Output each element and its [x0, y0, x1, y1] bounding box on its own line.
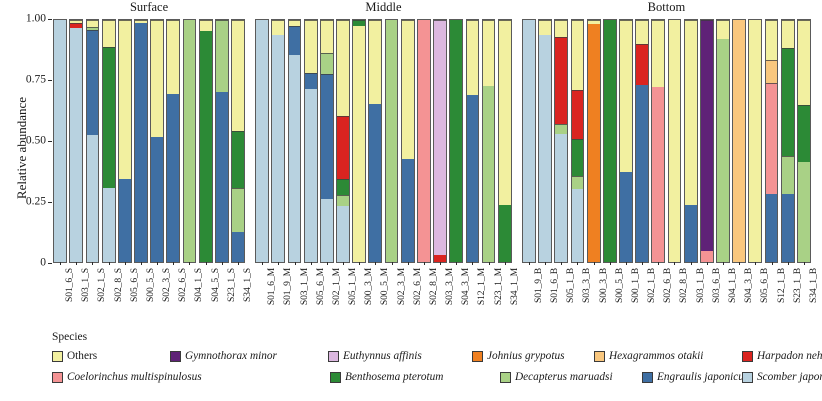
bar-segment — [232, 20, 244, 131]
stacked-bar[interactable] — [166, 19, 180, 263]
bar-segment — [87, 135, 99, 262]
x-axis-labels-middle: S01_6_MS01_9_MS03_1_MS05_6_MS02_1_MS05_1… — [254, 266, 513, 326]
x-tick-label-slot: S00_3_B — [586, 266, 602, 326]
bar-segment — [337, 195, 349, 205]
bar-slot[interactable] — [181, 19, 197, 263]
x-tick-label-slot: S05_6_S — [117, 266, 133, 326]
legend: Species OthersGymnothorax minorEuthynnus… — [52, 331, 820, 397]
stacked-bar[interactable] — [449, 19, 463, 263]
legend-swatch-icon — [328, 351, 339, 362]
x-tick-mark — [804, 262, 805, 265]
bar-segment — [151, 137, 163, 262]
legend-item[interactable]: Coelorinchus multispinulosus — [52, 368, 202, 387]
x-tick-label-slot: S02_6_M — [400, 266, 416, 326]
x-tick-label-slot: S01_6_M — [254, 266, 270, 326]
bar-segment — [232, 232, 244, 262]
bar-slot[interactable] — [319, 19, 335, 263]
bar-segment — [782, 48, 794, 156]
stacked-bar[interactable] — [53, 19, 67, 263]
bar-segment — [572, 189, 584, 262]
legend-item[interactable]: Harpadon nehereus — [742, 347, 822, 366]
panel-bottom — [521, 19, 812, 263]
bar-segment — [305, 89, 317, 262]
bar-segment — [321, 20, 333, 53]
bar-slot[interactable] — [254, 19, 270, 263]
x-tick-label-slot: S34_1_S — [230, 266, 246, 326]
stacked-bar[interactable] — [797, 19, 811, 263]
bar-segment — [232, 188, 244, 232]
bar-slot[interactable] — [521, 19, 537, 263]
stacked-bar[interactable] — [716, 19, 730, 263]
bar-slot[interactable] — [586, 19, 602, 263]
bar-slot[interactable] — [133, 19, 149, 263]
x-tick-label-slot: S04_1_B — [715, 266, 731, 326]
legend-label: Harpadon nehereus — [757, 350, 822, 363]
legend-item[interactable]: Engraulis japonicus — [642, 368, 748, 387]
stacked-bar[interactable] — [183, 19, 197, 263]
x-tick-mark — [707, 262, 708, 265]
bar-segment — [289, 55, 301, 262]
bar-segment — [402, 159, 414, 262]
bar-segment — [337, 116, 349, 179]
bar-slot[interactable] — [214, 19, 230, 263]
bar-slot[interactable] — [537, 19, 553, 263]
stacked-bar[interactable] — [134, 19, 148, 263]
x-tick-mark — [295, 262, 296, 265]
stacked-bar[interactable] — [554, 19, 568, 263]
stacked-bar[interactable] — [336, 19, 350, 263]
bar-slot[interactable] — [432, 19, 448, 263]
bar-segment — [103, 47, 115, 188]
legend-swatch-icon — [742, 372, 753, 383]
bar-segment — [499, 20, 511, 205]
stacked-bar[interactable] — [482, 19, 496, 263]
x-tick-mark — [674, 262, 675, 265]
bar-segment — [523, 20, 535, 262]
x-tick-mark — [125, 262, 126, 265]
bar-segment — [305, 73, 317, 89]
x-tick-label-slot: S02_1_M — [319, 266, 335, 326]
legend-item[interactable]: Others — [52, 347, 97, 366]
bar-slot[interactable] — [383, 19, 399, 263]
x-tick-label-slot: S05_6_M — [303, 266, 319, 326]
panel-title-strip: Surface Middle Bottom — [0, 0, 822, 18]
bar-segment — [402, 20, 414, 159]
x-tick-label-slot: S02_6_S — [165, 266, 181, 326]
y-tick-label: 1.00 — [2, 13, 46, 25]
x-tick-mark — [92, 262, 93, 265]
bar-slot[interactable] — [497, 19, 513, 263]
bar-segment — [539, 35, 551, 262]
x-tick-label-slot: S05_6_B — [747, 266, 763, 326]
bar-slot[interactable] — [464, 19, 480, 263]
bar-slot[interactable] — [117, 19, 133, 263]
x-tick-mark — [238, 262, 239, 265]
panel-middle — [254, 19, 513, 263]
x-tick-mark — [76, 262, 77, 265]
bar-slot[interactable] — [149, 19, 165, 263]
stacked-bar[interactable] — [86, 19, 100, 263]
stacked-bar[interactable] — [571, 19, 585, 263]
x-tick-mark — [505, 262, 506, 265]
bar-segment — [272, 20, 284, 35]
bar-segment — [184, 20, 196, 262]
bar-segment — [321, 74, 333, 199]
x-tick-mark — [577, 262, 578, 265]
bar-slot[interactable] — [416, 19, 432, 263]
x-tick-mark — [392, 262, 393, 265]
stacked-bar[interactable] — [102, 19, 116, 263]
legend-item[interactable]: Gymnothorax minor — [170, 347, 277, 366]
bar-segment — [337, 20, 349, 116]
x-tick-mark — [561, 262, 562, 265]
bar-slot[interactable] — [303, 19, 319, 263]
bar-segment — [369, 20, 381, 103]
legend-swatch-icon — [642, 372, 653, 383]
stacked-bar[interactable] — [538, 19, 552, 263]
x-tick-mark — [262, 262, 263, 265]
x-tick-mark — [739, 262, 740, 265]
x-tick-label-slot: S00_1_B — [618, 266, 634, 326]
bar-segment — [467, 20, 479, 95]
bar-segment — [119, 179, 131, 262]
x-tick-mark — [788, 262, 789, 265]
x-tick-mark — [545, 262, 546, 265]
bar-segment — [499, 205, 511, 262]
stacked-bar[interactable] — [215, 19, 229, 263]
bar-segment — [766, 194, 778, 262]
bar-slot[interactable] — [448, 19, 464, 263]
bar-segment — [70, 28, 82, 262]
bar-slot[interactable] — [618, 19, 634, 263]
stacked-bar[interactable] — [271, 19, 285, 263]
bar-slot[interactable] — [780, 19, 796, 263]
stacked-bar[interactable] — [69, 19, 83, 263]
bar-segment — [766, 60, 778, 83]
bar-group — [521, 19, 812, 263]
chart-figure: Surface Middle Bottom Relative abundance… — [0, 0, 822, 401]
bar-slot[interactable] — [198, 19, 214, 263]
x-tick-label: S34_1_M — [509, 268, 520, 305]
x-tick-mark — [658, 262, 659, 265]
legend-label: Gymnothorax minor — [185, 350, 277, 363]
x-tick-mark — [626, 262, 627, 265]
legend-swatch-icon — [52, 372, 63, 383]
legend-swatch-icon — [500, 372, 511, 383]
legend-swatch-icon — [742, 351, 753, 362]
bar-segment — [483, 20, 495, 86]
bar-segment — [636, 44, 648, 85]
legend-label: Engraulis japonicus — [657, 371, 748, 384]
x-tick-label-slot: S00_5_S — [133, 266, 149, 326]
bar-slot[interactable] — [335, 19, 351, 263]
legend-swatch-icon — [330, 372, 341, 383]
x-tick-mark — [311, 262, 312, 265]
bar-segment — [717, 20, 729, 39]
x-tick-mark — [109, 262, 110, 265]
x-tick-label-slot: S01_9_B — [521, 266, 537, 326]
bar-slot[interactable] — [650, 19, 666, 263]
stacked-bar[interactable] — [150, 19, 164, 263]
legend-label: Coelorinchus multispinulosus — [67, 371, 202, 384]
bar-segment — [555, 20, 567, 37]
legend-item[interactable]: Decapterus maruadsi — [500, 368, 613, 387]
x-tick-mark — [327, 262, 328, 265]
bar-segment — [798, 162, 810, 262]
bar-slot[interactable] — [731, 19, 747, 263]
stacked-bar[interactable] — [304, 19, 318, 263]
stacked-bar[interactable] — [651, 19, 665, 263]
panel-title-bottom: Bottom — [521, 0, 812, 15]
bar-slot[interactable] — [634, 19, 650, 263]
x-tick-label-slot: S00_5_M — [367, 266, 383, 326]
stacked-bar[interactable] — [522, 19, 536, 263]
x-tick-mark — [489, 262, 490, 265]
bar-segment — [321, 199, 333, 262]
stacked-bar[interactable] — [352, 19, 366, 263]
x-tick-label-slot: S02_6_B — [650, 266, 666, 326]
bar-segment — [604, 20, 616, 262]
bar-segment — [555, 124, 567, 134]
bar-segment — [103, 188, 115, 262]
bar-slot[interactable] — [68, 19, 84, 263]
x-tick-label-slot: S23_1_S — [214, 266, 230, 326]
x-tick-mark — [157, 262, 158, 265]
x-tick-mark — [456, 262, 457, 265]
x-tick-mark — [472, 262, 473, 265]
bar-slot[interactable] — [84, 19, 100, 263]
bar-segment — [572, 139, 584, 177]
stacked-bar[interactable] — [781, 19, 795, 263]
y-tick-label: 0.75 — [2, 74, 46, 86]
bar-segment — [588, 24, 600, 262]
bar-segment — [434, 20, 446, 255]
bar-segment — [450, 20, 462, 262]
x-tick-label-slot: S00_3_M — [351, 266, 367, 326]
legend-label: Hexagrammos otakii — [609, 350, 703, 363]
legend-item[interactable]: Scomber japonicus — [742, 368, 822, 387]
legend-label: Benthosema pterotum — [345, 371, 443, 384]
legend-swatch-icon — [170, 351, 181, 362]
bar-segment — [798, 20, 810, 105]
x-tick-label-slot: S03_3_M — [432, 266, 448, 326]
bar-slot[interactable] — [230, 19, 246, 263]
bar-segment — [572, 90, 584, 138]
bar-segment — [572, 20, 584, 90]
stacked-bar[interactable] — [118, 19, 132, 263]
x-tick-mark — [141, 262, 142, 265]
x-tick-mark — [359, 262, 360, 265]
y-tick-label: 0 — [2, 257, 46, 269]
legend-item[interactable]: Johnius grypotus — [472, 347, 565, 366]
bar-slot[interactable] — [286, 19, 302, 263]
x-tick-mark — [691, 262, 692, 265]
stacked-bar[interactable] — [433, 19, 447, 263]
bar-segment — [87, 30, 99, 136]
bar-segment — [386, 20, 398, 262]
bar-slot[interactable] — [747, 19, 763, 263]
stacked-bar[interactable] — [385, 19, 399, 263]
stacked-bar[interactable] — [231, 19, 245, 263]
x-tick-label-slot: S04_1_S — [181, 266, 197, 326]
legend-item[interactable]: Euthynnus affinis — [328, 347, 422, 366]
bar-slot[interactable] — [52, 19, 68, 263]
bar-group — [52, 19, 246, 263]
legend-swatch-icon — [52, 351, 63, 362]
legend-row-1: OthersGymnothorax minorEuthynnus affinis… — [52, 347, 820, 368]
x-tick-label-slot: S05_1_B — [553, 266, 569, 326]
bar-segment — [636, 20, 648, 44]
bar-slot[interactable] — [683, 19, 699, 263]
bar-slot[interactable] — [553, 19, 569, 263]
x-tick-mark — [772, 262, 773, 265]
x-tick-mark — [408, 262, 409, 265]
panel-surface — [52, 19, 246, 263]
x-tick-label-slot: S05_1_M — [335, 266, 351, 326]
bar-slot[interactable] — [763, 19, 779, 263]
legend-label: Others — [67, 350, 97, 363]
bar-slot[interactable] — [666, 19, 682, 263]
bar-segment — [766, 20, 778, 60]
bar-segment — [733, 20, 745, 262]
legend-item[interactable]: Benthosema pterotum — [330, 368, 443, 387]
bar-segment — [652, 87, 664, 262]
bar-slot[interactable] — [715, 19, 731, 263]
x-tick-label-slot: S02_1_S — [84, 266, 100, 326]
x-tick-label: S34_1_B — [808, 268, 819, 303]
stacked-bar[interactable] — [368, 19, 382, 263]
bar-segment — [483, 86, 495, 262]
bar-segment — [539, 20, 551, 35]
x-tick-label-slot: S02_3_M — [383, 266, 399, 326]
stacked-bar[interactable] — [288, 19, 302, 263]
stacked-bar[interactable] — [635, 19, 649, 263]
bar-segment — [572, 176, 584, 189]
bar-segment — [216, 20, 228, 92]
stacked-bar[interactable] — [401, 19, 415, 263]
bar-segment — [766, 83, 778, 194]
bar-slot[interactable] — [101, 19, 117, 263]
stacked-bar[interactable] — [255, 19, 269, 263]
bar-segment — [321, 53, 333, 74]
x-tick-label-slot: S02_8_S — [101, 266, 117, 326]
bar-slot[interactable] — [270, 19, 286, 263]
stacked-bar[interactable] — [748, 19, 762, 263]
bar-slot[interactable] — [367, 19, 383, 263]
bar-slot[interactable] — [569, 19, 585, 263]
x-tick-label-slot: S00_5_B — [602, 266, 618, 326]
bar-segment — [289, 26, 301, 55]
stacked-bar[interactable] — [765, 19, 779, 263]
x-tick-label-slot: S01_9_M — [270, 266, 286, 326]
stacked-bar[interactable] — [684, 19, 698, 263]
bar-slot[interactable] — [400, 19, 416, 263]
bar-group — [254, 19, 513, 263]
legend-title: Species — [52, 331, 820, 344]
x-tick-mark — [343, 262, 344, 265]
stacked-bar[interactable] — [498, 19, 512, 263]
bar-segment — [620, 20, 632, 172]
stacked-bar[interactable] — [417, 19, 431, 263]
y-tick-label: 0.50 — [2, 135, 46, 147]
legend-label: Johnius grypotus — [487, 350, 565, 363]
x-tick-mark — [375, 262, 376, 265]
plot-area — [52, 19, 812, 263]
bar-slot[interactable] — [351, 19, 367, 263]
x-tick-label-slot: S02_8_B — [666, 266, 682, 326]
legend-swatch-icon — [594, 351, 605, 362]
bar-slot[interactable] — [602, 19, 618, 263]
x-tick-mark — [222, 262, 223, 265]
x-tick-label-slot: S02_1_B — [634, 266, 650, 326]
bar-segment — [272, 35, 284, 262]
x-tick-label-slot: S03_1_B — [683, 266, 699, 326]
x-tick-label-slot: S02_8_M — [416, 266, 432, 326]
bar-segment — [749, 20, 761, 262]
x-tick-mark — [755, 262, 756, 265]
x-tick-mark — [529, 262, 530, 265]
bar-segment — [636, 85, 648, 262]
bar-segment — [782, 194, 794, 262]
stacked-bar[interactable] — [587, 19, 601, 263]
bar-segment — [353, 26, 365, 262]
bar-slot[interactable] — [796, 19, 812, 263]
bar-segment — [652, 20, 664, 87]
bar-segment — [434, 255, 446, 262]
stacked-bar[interactable] — [199, 19, 213, 263]
bar-slot[interactable] — [699, 19, 715, 263]
x-tick-mark — [610, 262, 611, 265]
x-tick-label-slot: S03_6_B — [699, 266, 715, 326]
stacked-bar[interactable] — [668, 19, 682, 263]
bar-segment — [200, 20, 212, 31]
stacked-bar[interactable] — [700, 19, 714, 263]
x-axis-labels-surface: S01_6_SS03_1_SS02_1_SS02_8_SS05_6_SS00_5… — [52, 266, 246, 326]
bar-segment — [798, 105, 810, 162]
legend-label: Euthynnus affinis — [343, 350, 422, 363]
x-tick-label-slot: S12_1_M — [464, 266, 480, 326]
bar-segment — [256, 20, 268, 262]
bar-segment — [103, 20, 115, 47]
stacked-bar[interactable] — [732, 19, 746, 263]
bar-segment — [337, 206, 349, 262]
stacked-bar[interactable] — [619, 19, 633, 263]
x-tick-mark — [278, 262, 279, 265]
x-tick-label: S34_1_S — [242, 268, 253, 302]
legend-item[interactable]: Hexagrammos otakii — [594, 347, 703, 366]
stacked-bar[interactable] — [466, 19, 480, 263]
bar-segment — [54, 20, 66, 262]
bar-segment — [216, 92, 228, 262]
bar-segment — [305, 20, 317, 73]
bar-segment — [87, 20, 99, 27]
bar-segment — [782, 156, 794, 195]
x-tick-label-slot: S03_3_B — [569, 266, 585, 326]
x-tick-label-slot: S34_1_M — [497, 266, 513, 326]
bar-slot[interactable] — [480, 19, 496, 263]
legend-swatch-icon — [472, 351, 483, 362]
bar-segment — [369, 104, 381, 263]
stacked-bar[interactable] — [320, 19, 334, 263]
x-tick-label-slot: S04_5_S — [198, 266, 214, 326]
legend-label: Scomber japonicus — [757, 371, 822, 384]
bar-segment — [669, 20, 681, 262]
stacked-bar[interactable] — [603, 19, 617, 263]
y-tick-label: 0.25 — [2, 196, 46, 208]
bar-segment — [232, 131, 244, 188]
legend-row-2: Coelorinchus multispinulosusBenthosema p… — [52, 368, 820, 389]
bar-slot[interactable] — [165, 19, 181, 263]
